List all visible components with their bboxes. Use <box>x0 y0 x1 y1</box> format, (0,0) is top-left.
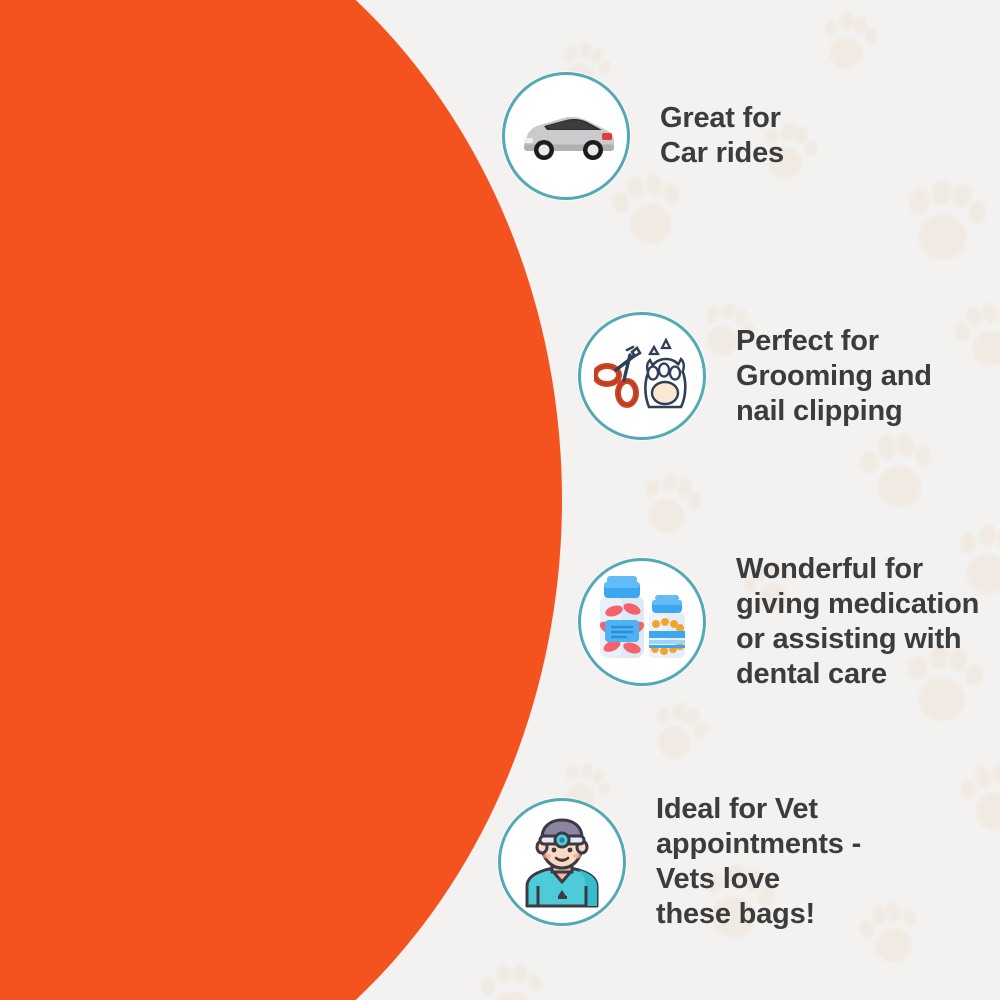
pill-bottles-icon <box>578 558 706 686</box>
nail-clippers-paw-icon <box>578 312 706 440</box>
infographic-canvas: Great for Car rides <box>0 0 1000 1000</box>
feature-label-grooming: Perfect for Grooming and nail clipping <box>736 324 932 429</box>
feature-item-car-rides[interactable]: Great for Car rides <box>502 72 784 200</box>
feature-item-medication[interactable]: Wonderful for giving medication or assis… <box>578 552 979 692</box>
veterinarian-icon <box>498 798 626 926</box>
feature-item-grooming[interactable]: Perfect for Grooming and nail clipping <box>578 312 932 440</box>
car-icon <box>502 72 630 200</box>
feature-label-car-rides: Great for Car rides <box>660 101 784 171</box>
feature-label-vet: Ideal for Vet appointments - Vets love t… <box>656 792 861 932</box>
feature-item-vet[interactable]: Ideal for Vet appointments - Vets love t… <box>498 792 861 932</box>
feature-label-medication: Wonderful for giving medication or assis… <box>736 552 979 692</box>
